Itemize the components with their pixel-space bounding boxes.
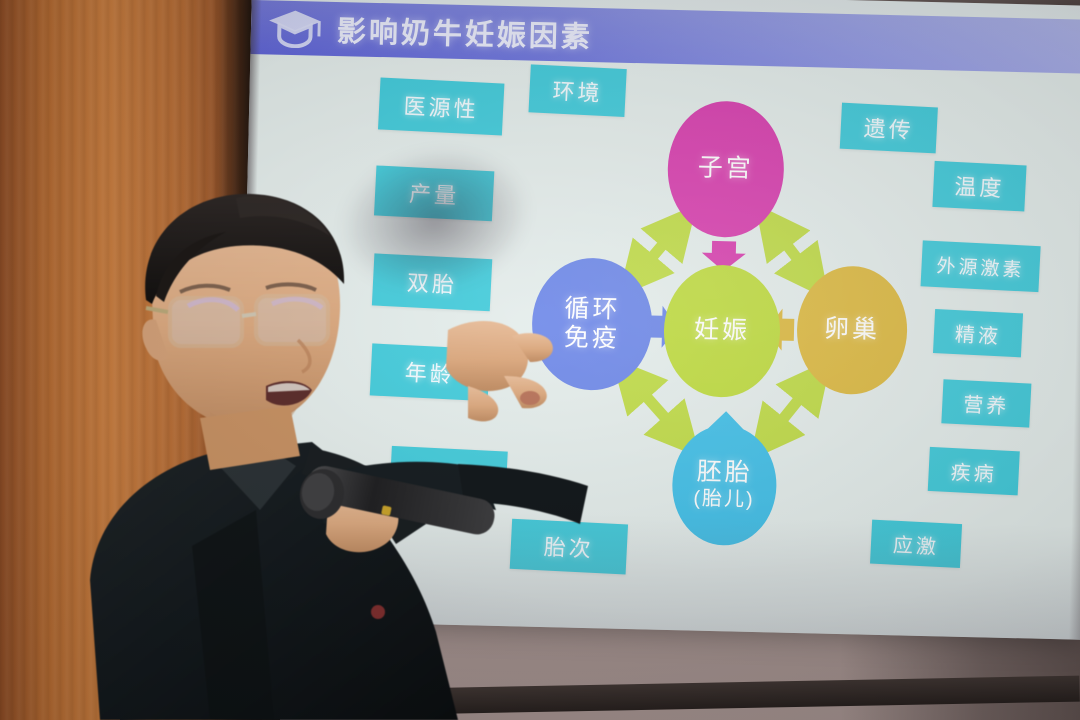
graduation-cap-icon bbox=[267, 7, 324, 48]
factor-tag-label: 外源激素 bbox=[936, 251, 1025, 282]
factor-tag-label: 精液 bbox=[954, 318, 1001, 349]
photo-scene: 影响奶牛妊娠因素 bbox=[0, 0, 1080, 720]
factor-tag-label: 温度 bbox=[954, 169, 1006, 203]
factor-tag-label: 疾病 bbox=[950, 456, 997, 487]
node-uterus-label: 子宫 bbox=[697, 154, 754, 185]
factor-tag-genetics: 遗传 bbox=[840, 103, 938, 154]
factor-tag-temperature: 温度 bbox=[932, 161, 1026, 212]
node-ovary-label: 卵巢 bbox=[824, 315, 881, 346]
factor-tag-stress: 应激 bbox=[870, 520, 962, 568]
factor-tag-label: 遗传 bbox=[863, 111, 915, 145]
presenter-pointing-hand bbox=[446, 321, 553, 421]
arrow-circulation-embryo bbox=[628, 377, 683, 436]
factor-tag-disease: 疾病 bbox=[928, 447, 1020, 495]
presenter-figure bbox=[60, 180, 620, 720]
node-embryo-sublabel: (胎儿) bbox=[693, 487, 755, 512]
glasses-icon bbox=[146, 296, 328, 346]
slide-title: 影响奶牛妊娠因素 bbox=[337, 8, 594, 56]
factor-tag-nutrition: 营养 bbox=[941, 379, 1031, 427]
factor-tag-label: 营养 bbox=[963, 388, 1010, 419]
arrow-circulation-uterus bbox=[635, 225, 678, 278]
factor-tag-exogenous-hormone: 外源激素 bbox=[921, 240, 1041, 292]
factor-tag-label: 应激 bbox=[892, 528, 939, 559]
presenter-head bbox=[142, 194, 344, 470]
coat-button bbox=[371, 605, 385, 619]
arrow-ovary-embryo bbox=[767, 378, 814, 439]
arrow-ovary-uterus bbox=[771, 226, 814, 279]
node-pregnancy-label: 妊娠 bbox=[694, 316, 751, 347]
factor-tag-semen: 精液 bbox=[933, 309, 1023, 357]
node-embryo-label: 胚胎 bbox=[696, 458, 753, 489]
factor-tag-label: 环境 bbox=[552, 73, 604, 107]
